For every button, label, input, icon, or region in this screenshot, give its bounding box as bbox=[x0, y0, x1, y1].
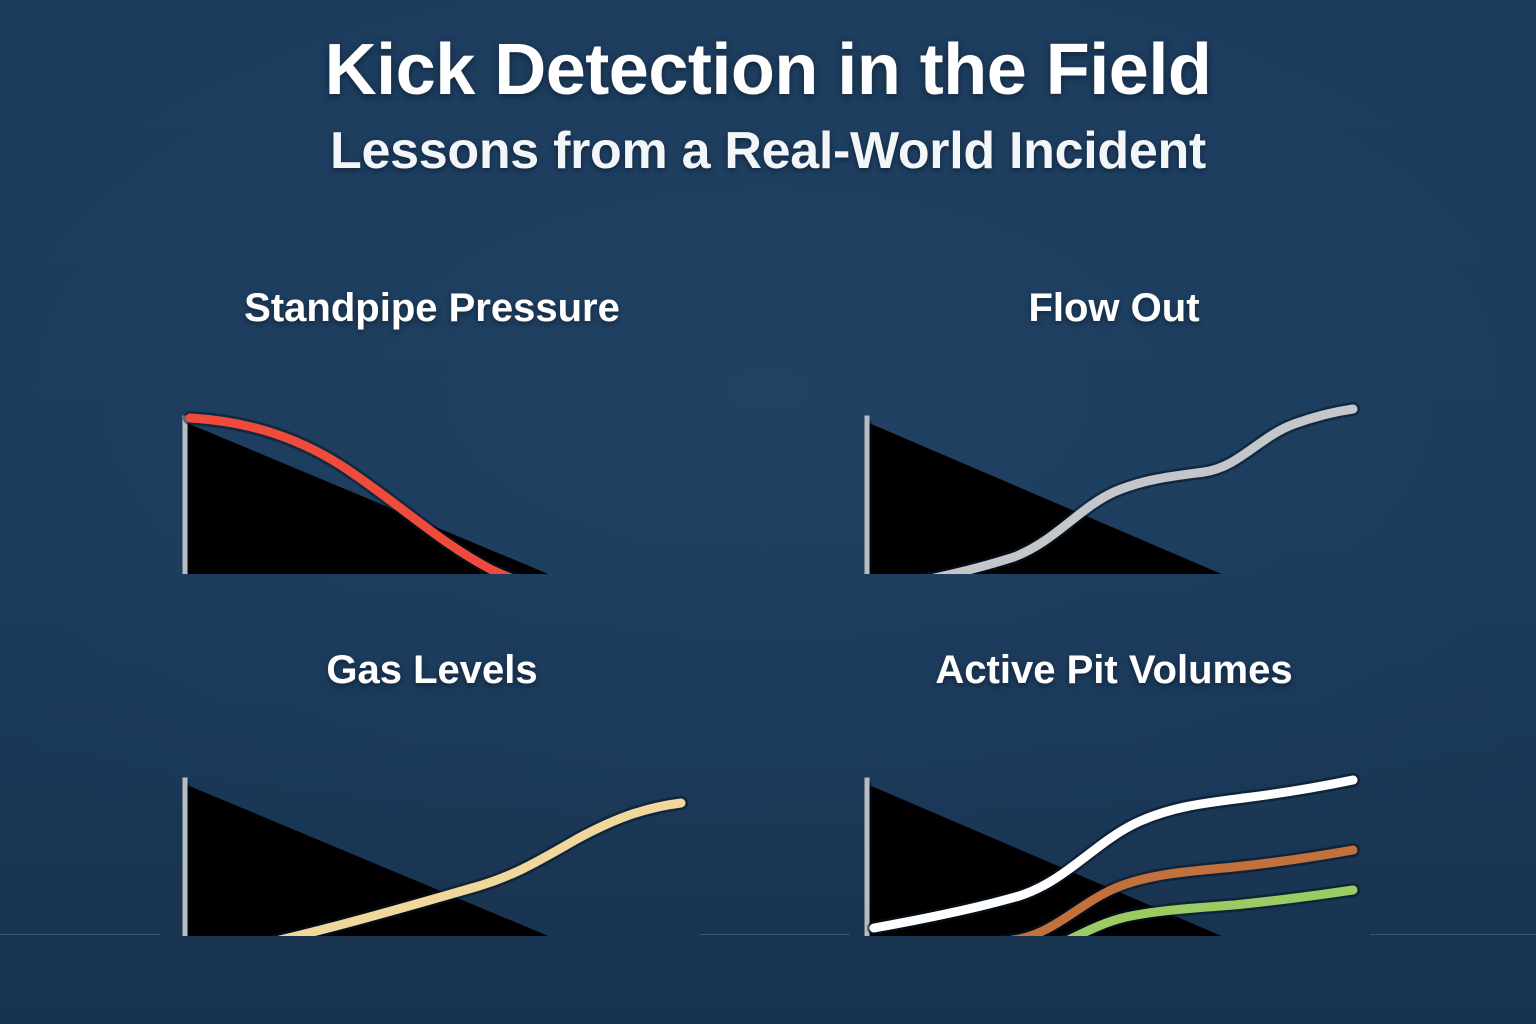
axes-standpipe-pressure bbox=[185, 418, 687, 574]
chart-active-pit-volumes bbox=[864, 704, 1374, 936]
chart-standpipe-pressure bbox=[182, 342, 692, 574]
panel-title-gas-levels: Gas Levels bbox=[182, 648, 682, 693]
bottom-hairline-left bbox=[0, 934, 160, 935]
slide-root: Kick Detection in the Field Lessons from… bbox=[0, 0, 1536, 1024]
panel-title-standpipe-pressure: Standpipe Pressure bbox=[182, 286, 682, 331]
page-title: Kick Detection in the Field bbox=[0, 34, 1536, 107]
bottom-hairline-right bbox=[1370, 934, 1536, 935]
panel-standpipe-pressure: Standpipe Pressure bbox=[182, 286, 682, 576]
chart-gas-levels bbox=[182, 704, 692, 936]
panel-gas-levels: Gas Levels bbox=[182, 648, 682, 938]
panel-title-active-pit-volumes: Active Pit Volumes bbox=[864, 648, 1364, 693]
bottom-hairline-center bbox=[700, 934, 850, 935]
page-subtitle: Lessons from a Real-World Incident bbox=[0, 125, 1536, 178]
panel-title-flow-out: Flow Out bbox=[864, 286, 1364, 331]
axes-gas-levels bbox=[185, 780, 687, 936]
title-block: Kick Detection in the Field Lessons from… bbox=[0, 34, 1536, 178]
panel-active-pit-volumes: Active Pit Volumes bbox=[864, 648, 1364, 938]
chart-flow-out bbox=[864, 342, 1374, 574]
panel-flow-out: Flow Out bbox=[864, 286, 1364, 576]
